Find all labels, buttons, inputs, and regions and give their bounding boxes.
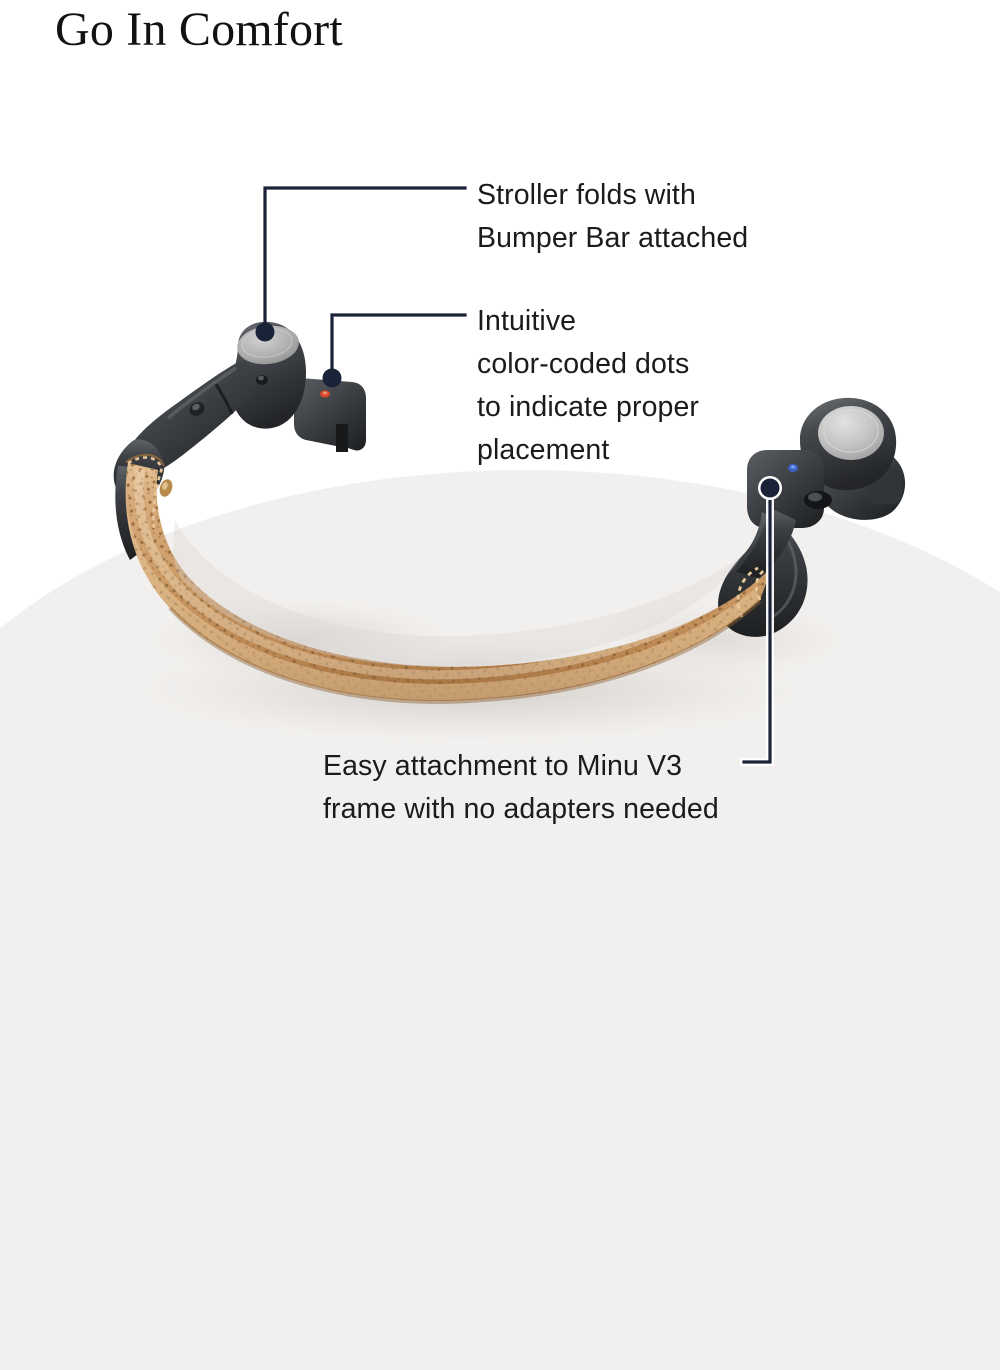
- callout-color-coded-dots-text: Intuitive color-coded dots to indicate p…: [477, 300, 699, 472]
- color-dot-red-highlight: [323, 392, 328, 395]
- callout-easy-attachment-text: Easy attachment to Minu V3 frame with no…: [323, 745, 719, 831]
- infographic-canvas: Go In Comfort Stroller folds with Bumper…: [0, 0, 1000, 949]
- callout-stroller-folds-text: Stroller folds with Bumper Bar attached: [477, 174, 748, 260]
- left-clamp-notch: [336, 424, 348, 452]
- color-dot-blue-highlight: [791, 465, 796, 469]
- left-clamp: [294, 378, 366, 451]
- right-release-button: [808, 493, 822, 502]
- page-title: Go In Comfort: [55, 2, 343, 57]
- left-pivot-highlight: [258, 376, 264, 381]
